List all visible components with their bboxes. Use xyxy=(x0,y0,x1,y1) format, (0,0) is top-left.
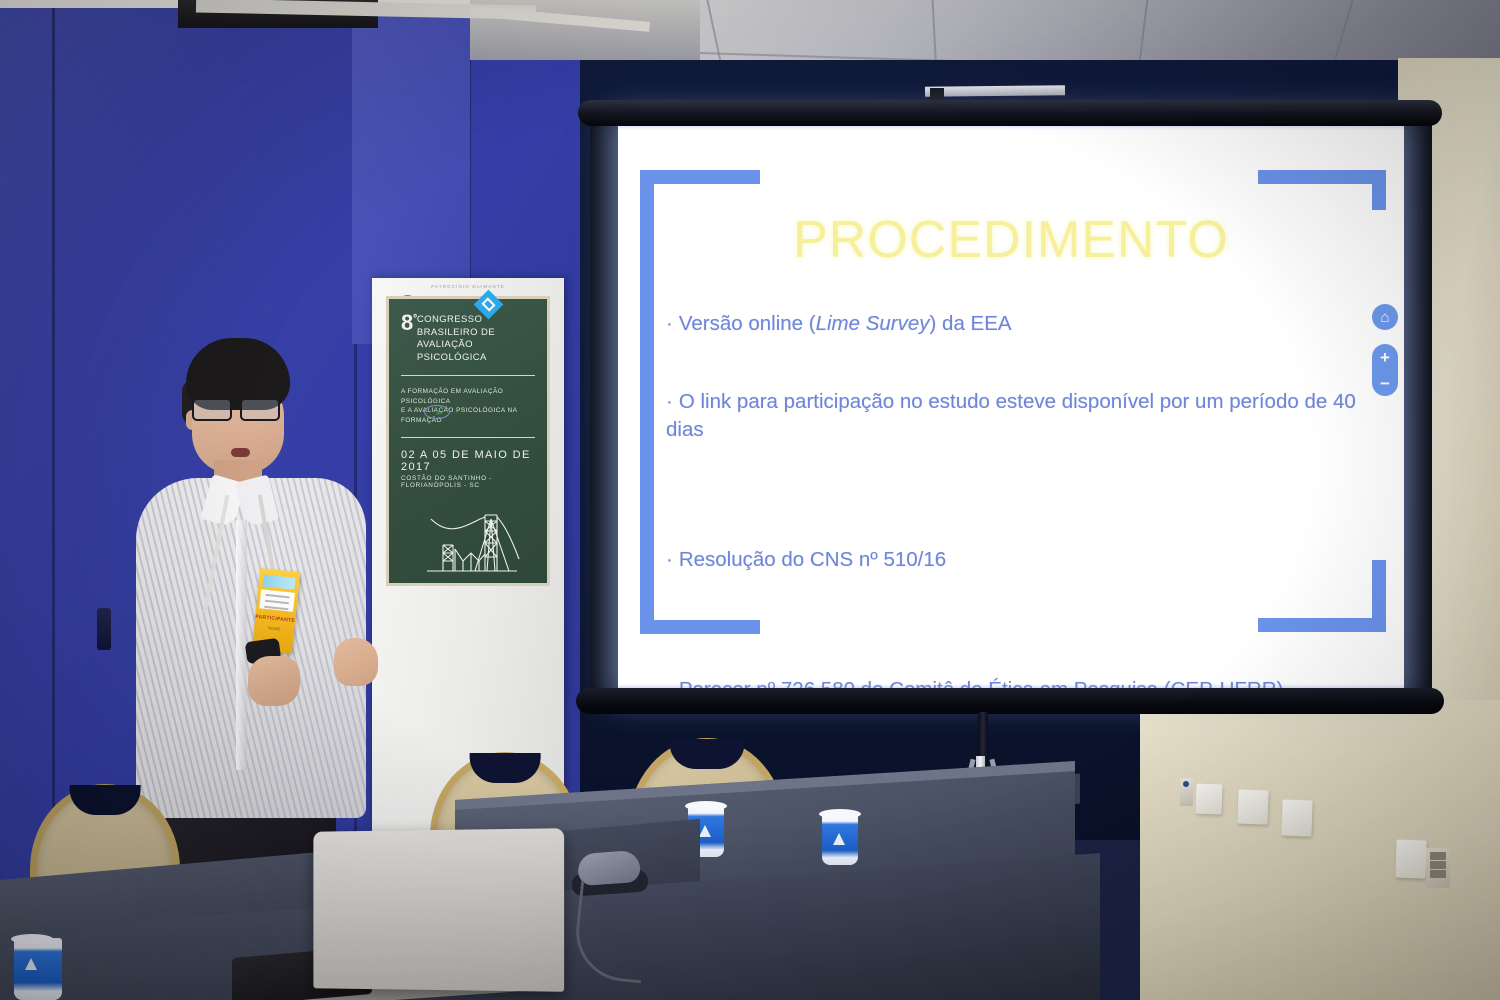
screen-roller-bottom xyxy=(576,688,1444,714)
banner-title: CONGRESSO BRASILEIRO DE AVALIAÇÃO PSICOL… xyxy=(417,313,533,364)
presenter-person: PARTICIPANTE NOME xyxy=(128,338,378,858)
zoom-out-icon[interactable]: − xyxy=(1372,370,1398,396)
bullet-text-part-2: ) da EEA xyxy=(930,312,1012,335)
wall-plate-1 xyxy=(1195,784,1222,815)
screen-frame-right xyxy=(1402,118,1432,698)
water-cup-foreground[interactable] xyxy=(14,938,62,1000)
banner-divider-1 xyxy=(401,375,535,376)
banner-date: 02 A 05 DE MAIO DE 2017 xyxy=(401,449,537,473)
badge-name-card xyxy=(259,589,295,611)
sponsor-tier-diamond-label: PATROCÍNIO DIAMANTE xyxy=(372,284,564,289)
projector-body xyxy=(930,88,944,100)
slide-procedimento: PROCEDIMENTO ·Versão online (Lime Survey… xyxy=(618,122,1404,692)
zoom-control-group[interactable]: + − xyxy=(1372,344,1398,396)
slide-bullet-list: ·Versão online (Lime Survey) da EEA ·O l… xyxy=(666,310,1376,692)
eyeglasses-icon xyxy=(190,398,290,421)
banner-theme-line-2: E A AVALIAÇÃO PSICOLÓGICA NA FORMAÇÃO xyxy=(401,406,537,425)
banner-poster: 8ºCONGRESSO BRASILEIRO DE AVALIAÇÃO PSIC… xyxy=(386,296,550,586)
presenter-left-hand xyxy=(248,656,300,706)
wall-plate-4 xyxy=(1395,839,1426,878)
banner-heading: 8ºCONGRESSO BRASILEIRO DE AVALIAÇÃO PSIC… xyxy=(401,313,537,364)
banner-divider-2 xyxy=(401,437,535,438)
slide-corner-bracket-top-right xyxy=(1258,170,1386,210)
bullet-marker: · xyxy=(666,390,673,413)
bullet-text: Resolução do CNS nº 510/16 xyxy=(679,548,946,571)
wall-sensor xyxy=(1180,778,1193,806)
bullet-text-part-1: Versão online ( xyxy=(679,312,816,335)
zoom-in-icon[interactable]: + xyxy=(1372,344,1398,370)
badge-header-band xyxy=(262,575,295,590)
badge-name-text: NOME xyxy=(254,624,294,633)
slide-bullet-1: ·Versão online (Lime Survey) da EEA xyxy=(666,310,1376,338)
slide-bullet-3: ·Resolução do CNS nº 510/16 xyxy=(666,546,1376,574)
wall-plate-3 xyxy=(1281,799,1312,836)
banner-place: COSTÃO DO SANTINHO - FLORIANÓPOLIS - SC xyxy=(401,475,537,489)
water-cup-right[interactable] xyxy=(822,813,858,865)
presenter-laptop[interactable] xyxy=(313,828,564,992)
light-switch[interactable] xyxy=(1426,848,1450,888)
projection-screen: PROCEDIMENTO ·Versão online (Lime Survey… xyxy=(590,100,1430,720)
slide-bullet-2: ·O link para participação no estudo este… xyxy=(666,388,1376,444)
presenter-right-hand xyxy=(334,638,378,686)
home-icon[interactable]: ⌂ xyxy=(1372,304,1398,330)
screen-roller-top xyxy=(578,100,1442,126)
door-handle[interactable] xyxy=(97,608,111,650)
bullet-text: O link para participação no estudo estev… xyxy=(666,390,1356,441)
badge-role-text: PARTICIPANTE xyxy=(255,614,295,624)
presenter-mouth xyxy=(231,448,250,457)
projector-mount xyxy=(925,85,1065,96)
conference-room-photo: PROCEDIMENTO ·Versão online (Lime Survey… xyxy=(0,0,1500,1000)
slide-title: PROCEDIMENTO xyxy=(618,210,1404,270)
bullet-marker: · xyxy=(666,312,673,335)
wall-plate-2 xyxy=(1237,789,1268,824)
screen-surface: PROCEDIMENTO ·Versão online (Lime Survey… xyxy=(618,122,1404,692)
bullet-text-italic: Lime Survey xyxy=(816,312,930,335)
bullet-marker: · xyxy=(666,548,673,571)
banner-theme-line-1: A FORMAÇÃO EM AVALIAÇÃO PSICOLÓGICA xyxy=(401,387,537,406)
banner-edition-number: 8º xyxy=(401,313,417,333)
capes-mark-icon xyxy=(424,405,450,419)
screen-frame-left xyxy=(590,118,618,698)
bridge-illustration xyxy=(425,509,521,579)
